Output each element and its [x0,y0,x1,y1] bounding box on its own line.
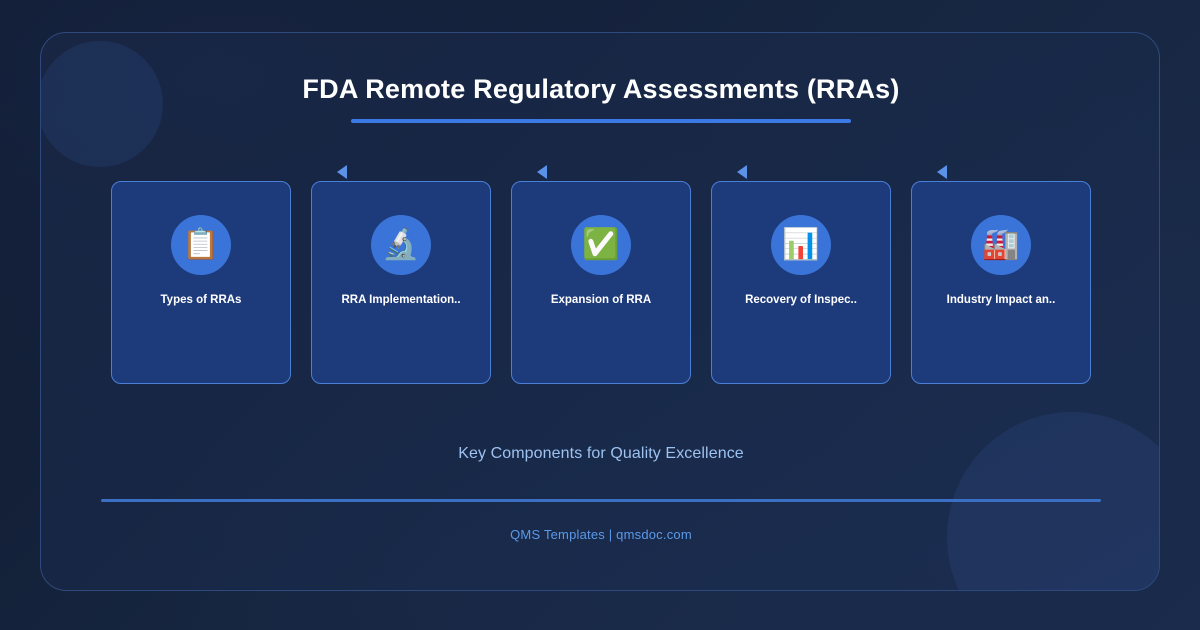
infographic-canvas: FDA Remote Regulatory Assessments (RRAs)… [0,0,1200,630]
check-mark-icon: ✅ [571,215,631,275]
card-rra-implementation[interactable]: 🔬 RRA Implementation.. [311,181,491,384]
footer-divider [101,499,1101,502]
card-label: Types of RRAs [126,292,276,310]
arrow-left-icon-3 [737,165,747,179]
microscope-icon: 🔬 [371,215,431,275]
arrow-left-icon-2 [537,165,547,179]
factory-icon: 🏭 [971,215,1031,275]
card-types-of-rras[interactable]: 📋 Types of RRAs [111,181,291,384]
clipboard-icon: 📋 [171,215,231,275]
arrow-left-icon-1 [337,165,347,179]
card-label: RRA Implementation.. [326,292,476,310]
card-expansion-of-rra[interactable]: ✅ Expansion of RRA [511,181,691,384]
card-label: Industry Impact an.. [926,292,1076,310]
footer-attribution: QMS Templates | qmsdoc.com [41,527,1160,542]
card-row: 📋 Types of RRAs 🔬 RRA Implementation.. ✅… [111,181,1091,384]
title-underline [351,119,851,123]
card-label: Expansion of RRA [526,292,676,310]
card-recovery-of-inspections[interactable]: 📊 Recovery of Inspec.. [711,181,891,384]
title-block: FDA Remote Regulatory Assessments (RRAs) [41,75,1160,123]
card-industry-impact[interactable]: 🏭 Industry Impact an.. [911,181,1091,384]
bar-chart-icon: 📊 [771,215,831,275]
content-panel: FDA Remote Regulatory Assessments (RRAs)… [40,32,1160,591]
tagline: Key Components for Quality Excellence [41,445,1160,463]
card-label: Recovery of Inspec.. [726,292,876,310]
page-title: FDA Remote Regulatory Assessments (RRAs) [41,75,1160,105]
arrow-left-icon-4 [937,165,947,179]
